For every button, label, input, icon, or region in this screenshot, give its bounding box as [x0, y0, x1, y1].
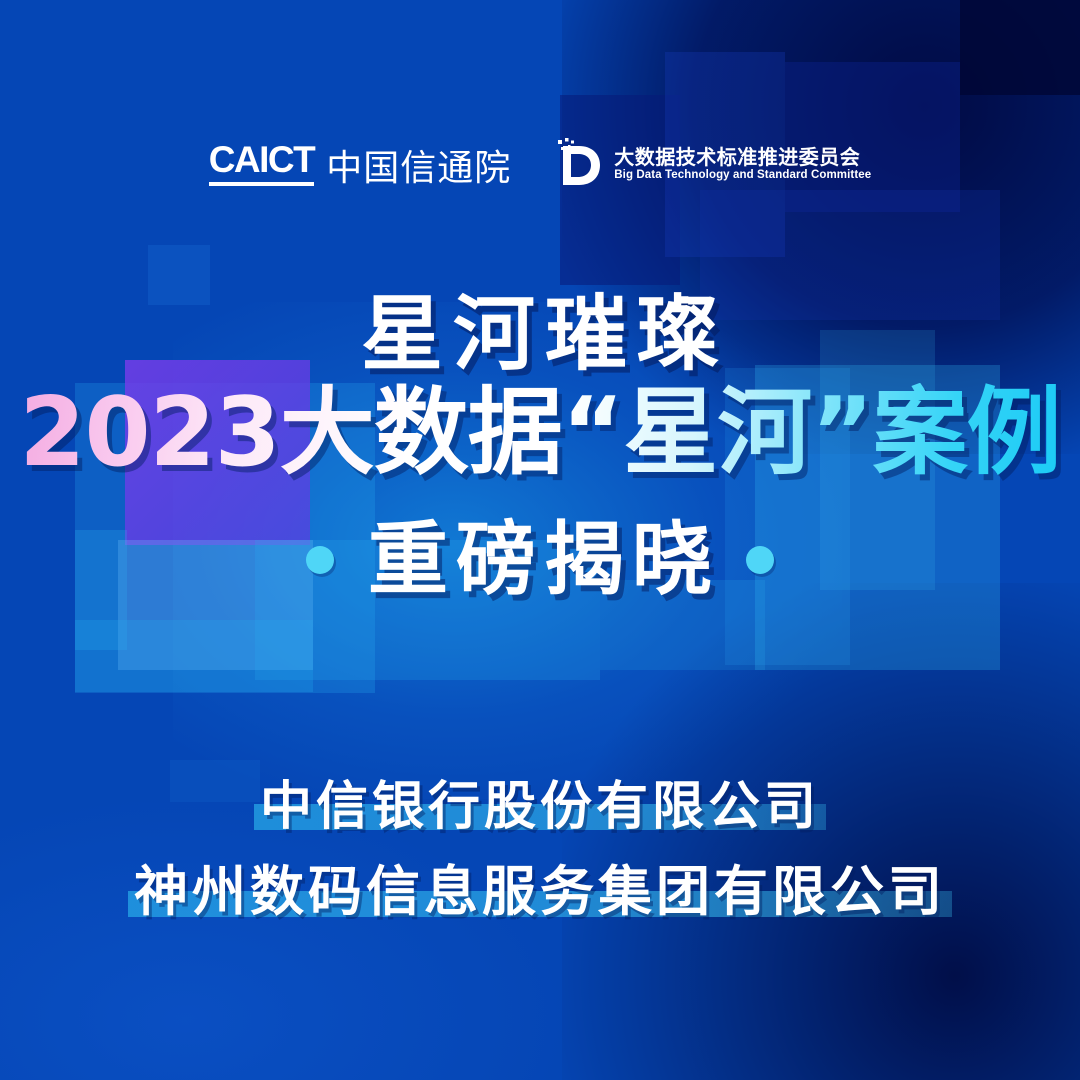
- company-row-2: 神州数码信息服务集团有限公司: [0, 836, 1080, 922]
- bdtsc-logo: 大数据技术标准推进委员会 Big Data Technology and Sta…: [557, 138, 871, 190]
- poster-canvas: CAICT 中国信通院 大数据技术标准推进委员会 Big Data Techno…: [0, 0, 1080, 1080]
- caict-logo: CAICT 中国信通院: [209, 141, 512, 187]
- bullet-dot-left-icon: [306, 546, 334, 574]
- company-name-1-text: 中信银行股份有限公司: [260, 777, 820, 837]
- company-name-2: 神州数码信息服务集团有限公司: [128, 862, 952, 922]
- bdtsc-english-name: Big Data Technology and Standard Committ…: [614, 170, 871, 182]
- caict-chinese-name: 中国信通院: [326, 151, 511, 187]
- bdtsc-text: 大数据技术标准推进委员会 Big Data Technology and Sta…: [614, 147, 871, 182]
- header-logos: CAICT 中国信通院 大数据技术标准推进委员会 Big Data Techno…: [0, 138, 1080, 190]
- company-name-2-text: 神州数码信息服务集团有限公司: [134, 860, 946, 923]
- company-name-1: 中信银行股份有限公司: [254, 778, 826, 836]
- title-line-3: 重磅揭晓: [360, 518, 720, 602]
- bdtsc-chinese-name: 大数据技术标准推进委员会: [614, 147, 871, 167]
- main-title-block: 星河璀璨 2023大数据“星河”案例 重磅揭晓: [0, 292, 1080, 602]
- company-row-1: 中信银行股份有限公司: [0, 778, 1080, 836]
- title-line-3-row: 重磅揭晓: [0, 518, 1080, 602]
- bullet-dot-right-icon: [746, 546, 774, 574]
- caict-wordmark: CAICT: [209, 141, 315, 187]
- title-line-2: 2023大数据“星河”案例: [0, 383, 1080, 484]
- company-list: 中信银行股份有限公司 神州数码信息服务集团有限公司: [0, 778, 1080, 923]
- title-line-1: 星河璀璨: [0, 292, 1080, 377]
- letter-d-logo-icon: [557, 138, 603, 190]
